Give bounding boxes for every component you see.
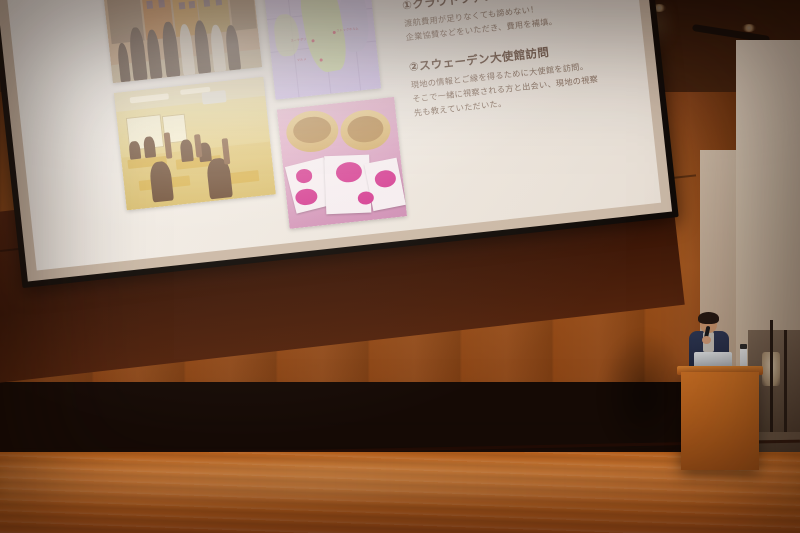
mic-stand [770, 320, 773, 440]
sweden-map-photo: キルナ ウメオ ストックホルム ヨーテボリ マルメ [261, 0, 381, 100]
street-scene-photo [102, 0, 262, 83]
bottle-cap [740, 344, 747, 349]
lectern [681, 372, 759, 470]
fika-materials-photo: Fika [277, 97, 407, 229]
presenter-hair [698, 312, 719, 324]
classroom-photo [114, 77, 276, 211]
floor-reflection [0, 460, 800, 500]
presenter-shadow [600, 330, 690, 460]
ceiling-spotlight-icon [742, 24, 756, 32]
mic-stand [784, 330, 787, 435]
auditorium-scene: キルナ ウメオ ストックホルム ヨーテボリ マルメ [0, 0, 800, 533]
presenter-hand [702, 336, 711, 344]
